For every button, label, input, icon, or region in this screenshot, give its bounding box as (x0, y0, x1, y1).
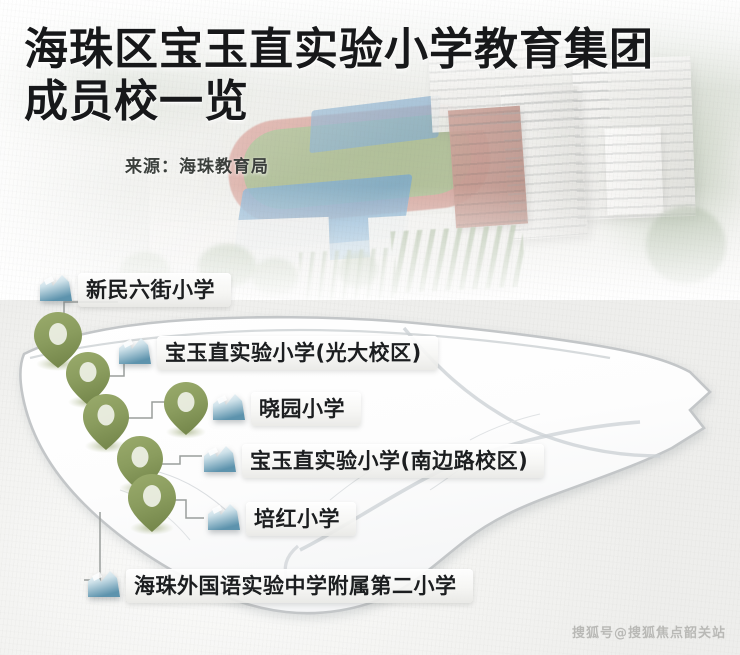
school-label-peihong[interactable]: 培红小学 (204, 499, 356, 539)
school-icon (204, 502, 244, 536)
school-label-text: 海珠外国语实验中学附属第二小学 (134, 576, 457, 597)
school-label-text: 晓园小学 (259, 399, 345, 420)
school-label-baoyuzhi-nanbianlu[interactable]: 宝玉直实验小学(南边路校区) (200, 441, 544, 481)
school-label-text: 培红小学 (254, 509, 340, 530)
school-icon (115, 336, 155, 370)
school-label-chip: 海珠外国语实验中学附属第二小学 (126, 569, 473, 603)
school-label-haizhu-fuer[interactable]: 海珠外国语实验中学附属第二小学 (84, 566, 473, 606)
page-title: 海珠区宝玉直实验小学教育集团 成员校一览 (24, 24, 724, 128)
school-label-chip: 宝玉直实验小学(南边路校区) (242, 444, 544, 478)
school-label-text: 宝玉直实验小学(南边路校区) (250, 451, 528, 472)
school-label-text: 新民六街小学 (86, 280, 215, 301)
school-label-chip: 新民六街小学 (78, 273, 231, 307)
school-icon (36, 273, 76, 307)
source-attribution: 来源：海珠教育局 (125, 152, 269, 177)
school-label-chip: 宝玉直实验小学(光大校区) (157, 336, 438, 370)
school-label-text: 宝玉直实验小学(光大校区) (165, 343, 422, 364)
map-pin (83, 394, 129, 453)
school-label-chip: 晓园小学 (251, 392, 361, 426)
school-label-baoyuzhi-guangda[interactable]: 宝玉直实验小学(光大校区) (115, 333, 438, 373)
map-pin (128, 474, 176, 535)
school-label-xinmin[interactable]: 新民六街小学 (36, 270, 231, 310)
school-icon (200, 444, 240, 478)
watermark: 搜狐号@搜狐焦点韶关站 (572, 622, 726, 641)
school-icon (84, 569, 124, 603)
school-label-chip: 培红小学 (246, 502, 356, 536)
infographic-poster: 海珠区宝玉直实验小学教育集团 成员校一览 来源：海珠教育局 (0, 0, 740, 655)
school-label-xiaoyuan[interactable]: 晓园小学 (209, 389, 361, 429)
title-line-2: 成员校一览 (24, 76, 724, 128)
title-line-1: 海珠区宝玉直实验小学教育集团 (24, 24, 724, 76)
map-pin (164, 382, 208, 439)
school-icon (209, 392, 249, 426)
